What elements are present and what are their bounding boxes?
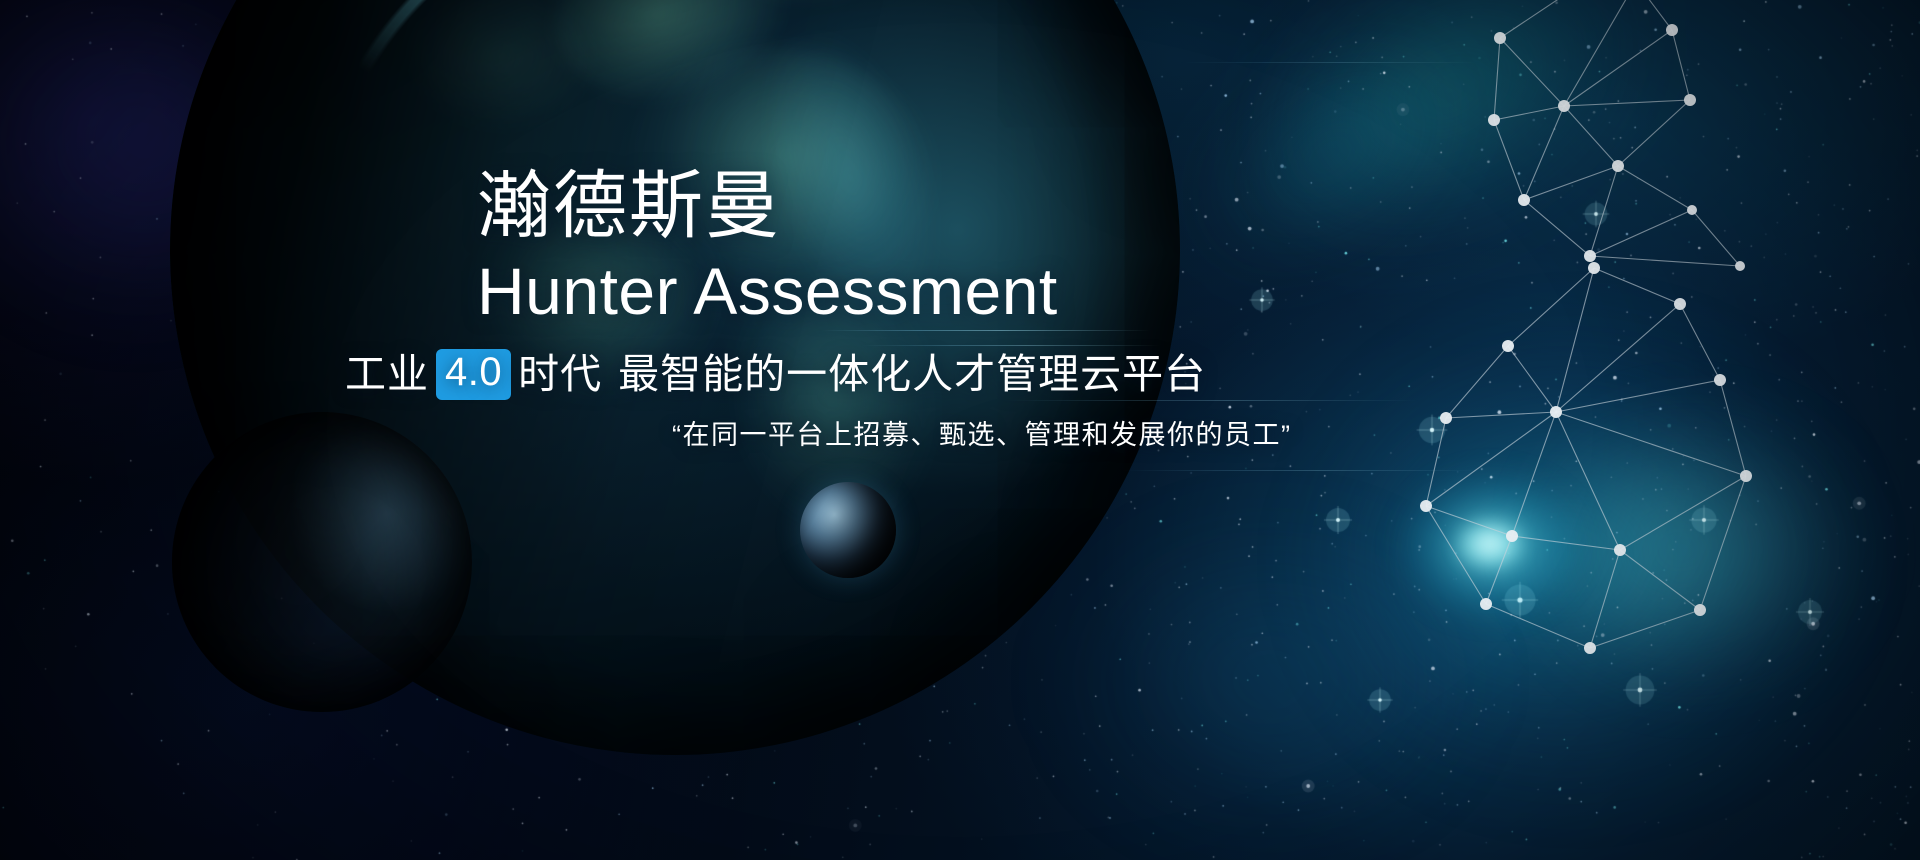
- tagline-after-2: 最智能的一体化人才管理云平台: [618, 348, 1206, 401]
- hero-banner: 瀚德斯曼 Hunter Assessment 工业 4.0 时代 最智能的一体化…: [0, 0, 1920, 860]
- tagline-after-1: 时代: [518, 348, 602, 401]
- page-title-cn: 瀚德斯曼: [477, 168, 1058, 243]
- cyan-light-burst-core: [1455, 520, 1525, 568]
- tagline-quote: “在同一平台上招募、甄选、管理和发展你的员工”: [672, 413, 1291, 452]
- page-title-en: Hunter Assessment: [477, 253, 1058, 331]
- tagline: 工业 4.0 时代 最智能的一体化人才管理云平台: [345, 348, 1206, 401]
- industry-version-badge: 4.0: [436, 349, 511, 400]
- tagline-before: 工业: [345, 348, 429, 401]
- headline-block: 瀚德斯曼 Hunter Assessment: [477, 168, 1058, 331]
